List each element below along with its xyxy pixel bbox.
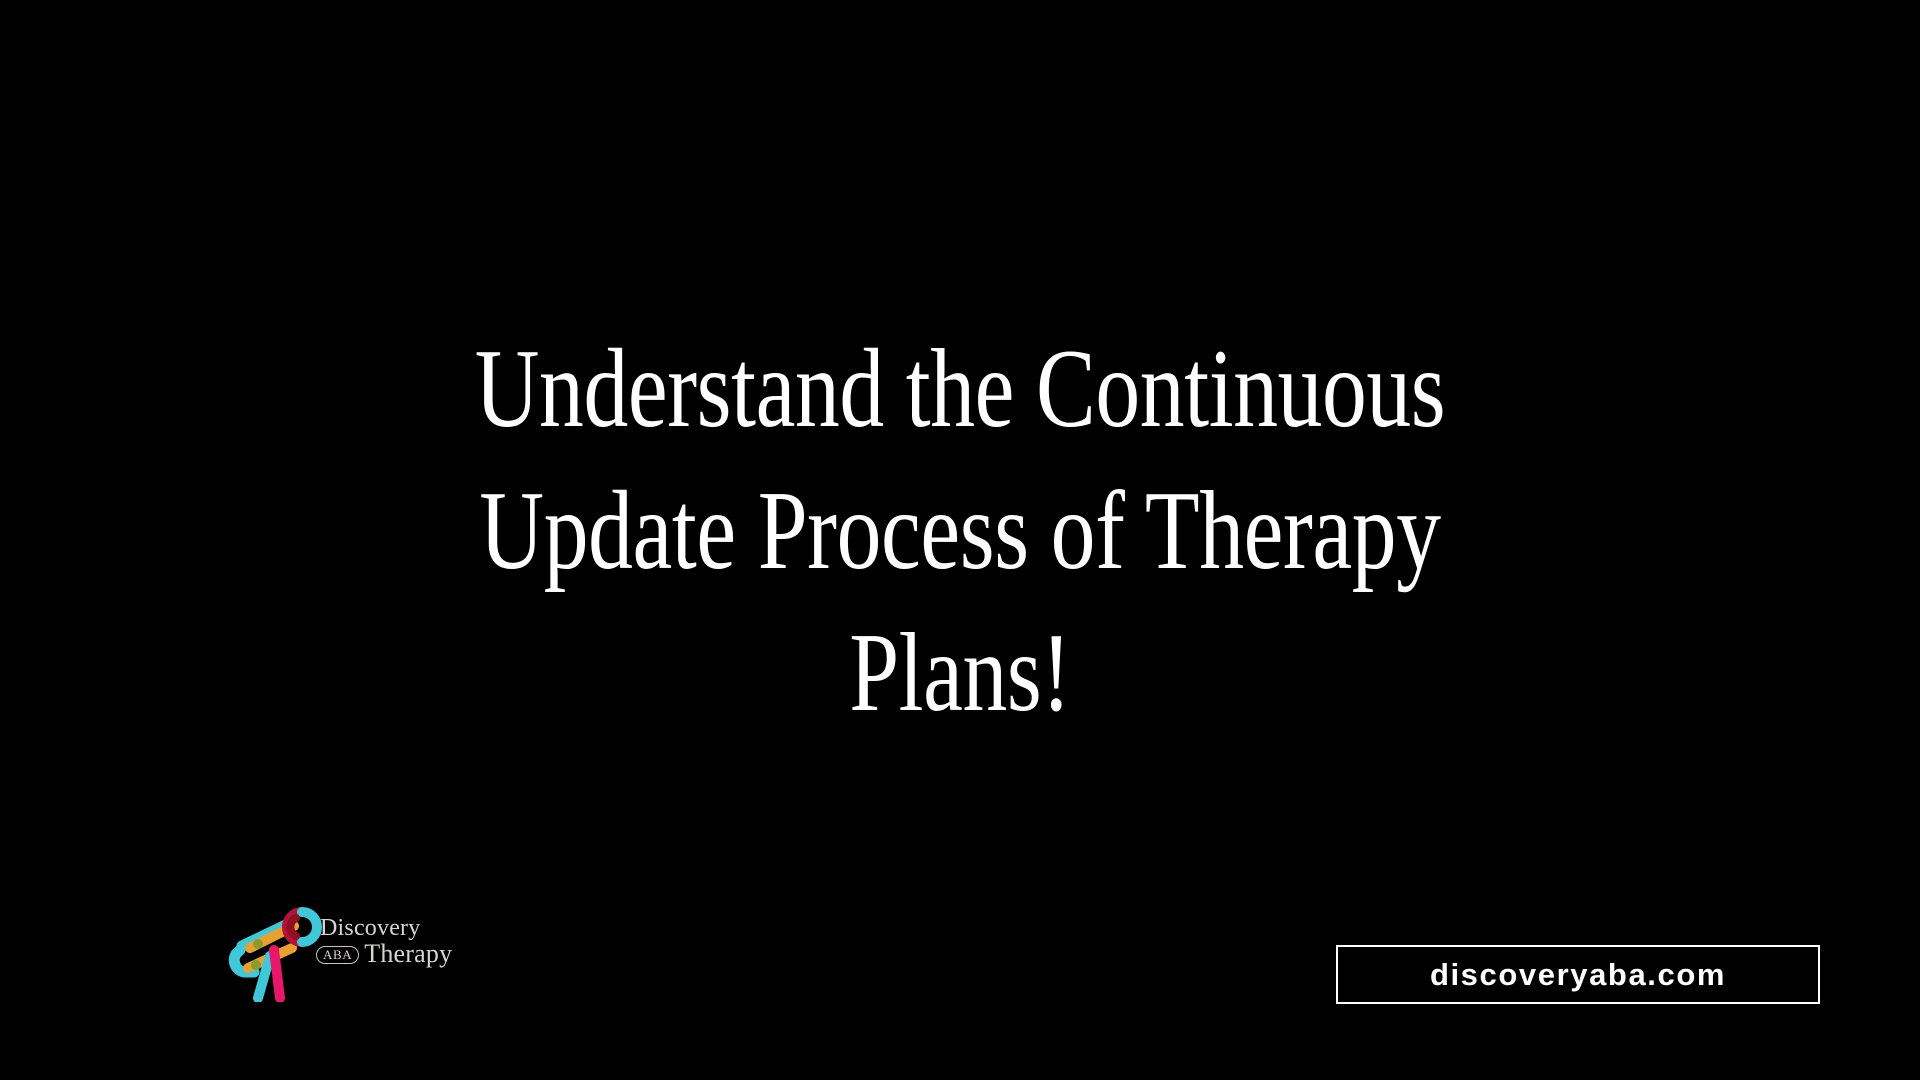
title-line-2: Update Process of Therapy xyxy=(336,460,1584,602)
slide-canvas: Understand the Continuous Update Process… xyxy=(0,0,1920,1080)
website-badge: discoveryaba.com xyxy=(1336,945,1820,1004)
logo-wordmark: Discovery ABA Therapy xyxy=(316,916,446,968)
telescope-icon xyxy=(228,898,324,1002)
brand-logo: Discovery ABA Therapy xyxy=(228,898,438,1002)
logo-text-therapy: Therapy xyxy=(364,941,452,968)
title-line-1: Understand the Continuous xyxy=(336,318,1584,460)
page-title: Understand the Continuous Update Process… xyxy=(0,318,1920,744)
title-line-3: Plans! xyxy=(336,602,1584,744)
logo-aba-badge: ABA xyxy=(316,946,359,964)
logo-text-discovery: Discovery xyxy=(320,916,446,940)
logo-bottom-row: ABA Therapy xyxy=(316,941,446,968)
website-url-text: discoveryaba.com xyxy=(1430,957,1726,993)
